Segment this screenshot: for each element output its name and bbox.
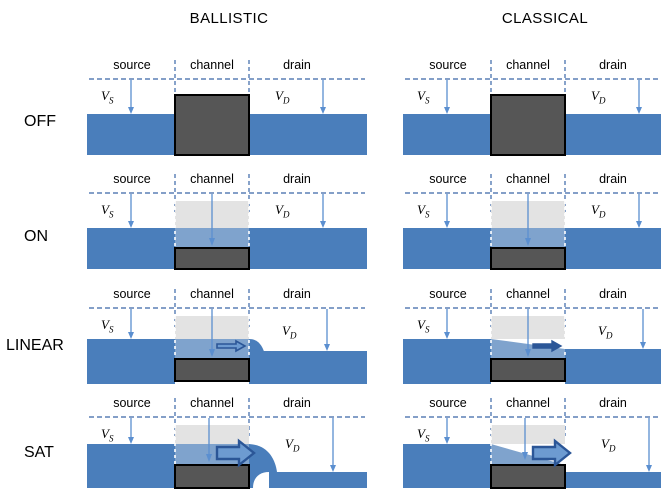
- source-voltage-arrow: [444, 309, 450, 339]
- region-label-channel: channel: [175, 58, 249, 72]
- gate-barrier-block: [491, 465, 565, 488]
- source-voltage-arrow: [128, 194, 134, 228]
- region-label-channel: channel: [491, 172, 565, 186]
- region-label-source: source: [413, 172, 483, 186]
- drain-charge-sea: [263, 351, 367, 384]
- region-label-drain: drain: [262, 172, 332, 186]
- voltage-label-source: VS: [101, 88, 113, 106]
- region-label-drain: drain: [262, 396, 332, 410]
- source-charge-sea: [403, 444, 491, 488]
- region-label-source: source: [97, 172, 167, 186]
- diagram-off-classical: [403, 58, 661, 163]
- voltage-label-source: VS: [101, 426, 113, 444]
- gate-barrier-block: [491, 95, 565, 155]
- drain-voltage-arrow: [636, 194, 642, 228]
- voltage-label-drain: VD: [282, 323, 296, 341]
- region-label-source: source: [413, 58, 483, 72]
- source-voltage-arrow: [444, 80, 450, 114]
- gate-barrier-block: [175, 465, 249, 488]
- source-charge-sea: [403, 114, 491, 155]
- voltage-label-source: VS: [417, 88, 429, 106]
- drain-charge-sea: [273, 472, 367, 488]
- region-label-channel: channel: [175, 396, 249, 410]
- panel-on-classical: source channel drain VS VD: [403, 172, 661, 277]
- diagram-on-classical: [403, 172, 661, 277]
- voltage-label-drain: VD: [601, 436, 615, 454]
- panel-linear-ballistic: source channel drain VS VD: [87, 287, 367, 392]
- region-label-drain: drain: [578, 396, 648, 410]
- region-label-drain: drain: [262, 287, 332, 301]
- panel-sat-classical: source channel drain VS VD: [403, 396, 661, 496]
- drain-charge-sea: [565, 228, 661, 269]
- region-label-channel: channel: [175, 172, 249, 186]
- row-label-off: OFF: [24, 113, 56, 131]
- gate-barrier-block: [175, 95, 249, 155]
- region-label-channel: channel: [175, 287, 249, 301]
- source-charge-sea: [87, 339, 175, 384]
- region-label-source: source: [97, 287, 167, 301]
- source-voltage-arrow: [128, 309, 134, 339]
- voltage-label-source: VS: [101, 202, 113, 220]
- drain-voltage-arrow: [330, 418, 336, 472]
- panel-off-classical: source channel drain VS VD: [403, 58, 661, 163]
- region-label-drain: drain: [262, 58, 332, 72]
- column-title-classical: CLASSICAL: [475, 10, 615, 27]
- source-charge-sea: [87, 114, 175, 155]
- drain-voltage-arrow: [636, 80, 642, 114]
- region-label-drain: drain: [578, 58, 648, 72]
- voltage-label-drain: VD: [591, 88, 605, 106]
- drain-waterfall-spill: [249, 339, 265, 384]
- region-label-channel: channel: [491, 396, 565, 410]
- gate-barrier-block: [175, 359, 249, 381]
- region-label-drain: drain: [578, 172, 648, 186]
- figure-canvas: BALLISTIC CLASSICAL OFF ON LINEAR SAT so…: [0, 0, 661, 503]
- column-title-ballistic: BALLISTIC: [159, 10, 299, 27]
- region-label-drain: drain: [578, 287, 648, 301]
- region-label-source: source: [413, 396, 483, 410]
- region-label-source: source: [413, 287, 483, 301]
- gate-barrier-block: [491, 359, 565, 381]
- gate-barrier-block: [175, 248, 249, 269]
- row-label-sat: SAT: [24, 444, 54, 462]
- voltage-label-source: VS: [417, 202, 429, 220]
- region-label-channel: channel: [491, 58, 565, 72]
- drain-charge-sea: [565, 472, 661, 488]
- source-voltage-arrow: [444, 418, 450, 444]
- drain-charge-sea: [249, 228, 367, 269]
- voltage-label-drain: VD: [285, 436, 299, 454]
- voltage-label-drain: VD: [275, 88, 289, 106]
- gate-barrier-block: [491, 248, 565, 269]
- drain-charge-sea: [565, 114, 661, 155]
- source-charge-sea: [403, 228, 491, 269]
- voltage-label-source: VS: [101, 317, 113, 335]
- diagram-sat-classical: [403, 396, 661, 496]
- region-label-source: source: [97, 396, 167, 410]
- diagram-linear-classical: [403, 287, 661, 392]
- drain-voltage-arrow: [324, 309, 330, 351]
- drain-voltage-arrow: [646, 418, 652, 472]
- panel-on-ballistic: source channel drain VS VD: [87, 172, 367, 277]
- voltage-label-drain: VD: [598, 323, 612, 341]
- source-voltage-arrow: [128, 80, 134, 114]
- drain-charge-sea: [249, 114, 367, 155]
- region-label-source: source: [97, 58, 167, 72]
- drain-voltage-arrow: [320, 194, 326, 228]
- diagram-linear-ballistic: [87, 287, 367, 392]
- voltage-label-source: VS: [417, 426, 429, 444]
- diagram-on-ballistic: [87, 172, 367, 277]
- panel-off-ballistic: source channel drain VS VD: [87, 58, 367, 163]
- panel-sat-ballistic: source channel drain VS VD: [87, 396, 367, 496]
- row-label-linear: LINEAR: [6, 337, 64, 355]
- source-charge-sea: [87, 228, 175, 269]
- drain-voltage-arrow: [320, 80, 326, 114]
- source-charge-sea: [87, 444, 175, 488]
- source-voltage-arrow: [128, 418, 134, 444]
- drain-charge-sea: [565, 349, 661, 384]
- voltage-label-drain: VD: [591, 202, 605, 220]
- diagram-sat-ballistic: [87, 396, 367, 496]
- voltage-label-drain: VD: [275, 202, 289, 220]
- diagram-off-ballistic: [87, 58, 367, 163]
- source-charge-sea: [403, 339, 491, 384]
- panel-linear-classical: source channel drain VS VD: [403, 287, 661, 392]
- source-voltage-arrow: [444, 194, 450, 228]
- drain-voltage-arrow: [640, 309, 646, 349]
- region-label-channel: channel: [491, 287, 565, 301]
- row-label-on: ON: [24, 228, 48, 246]
- voltage-label-source: VS: [417, 317, 429, 335]
